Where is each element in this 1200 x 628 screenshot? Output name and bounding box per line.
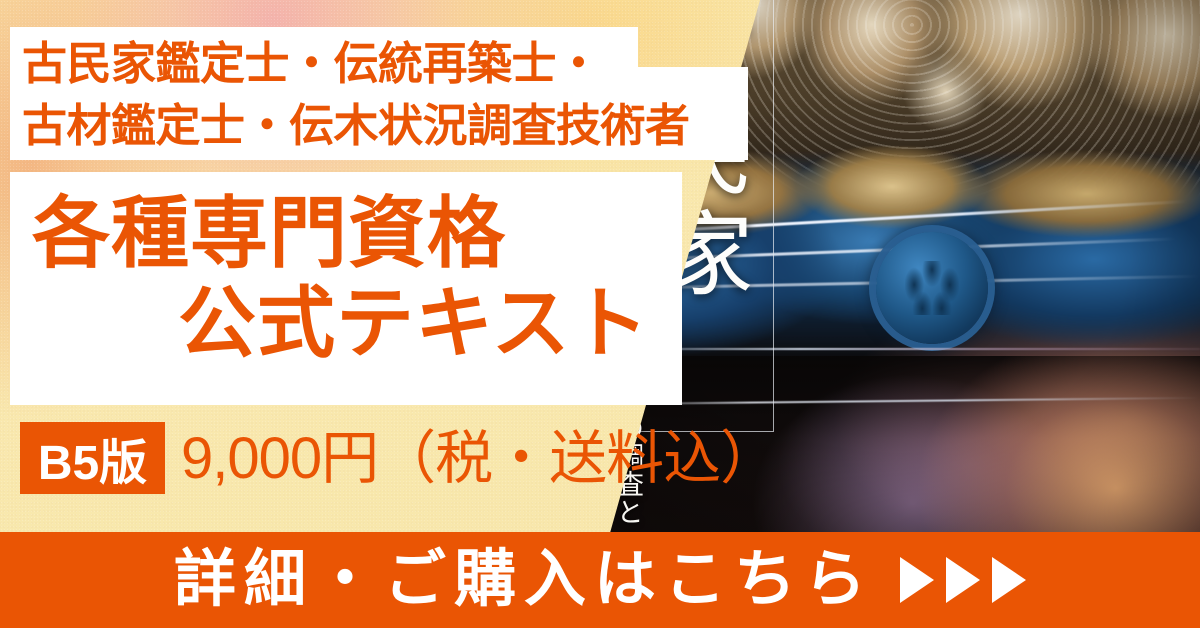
certifications-text: 古民家鑑定士・伝統再築士・ 古材鑑定士・伝木状況調査技術者: [22, 33, 742, 157]
cta-arrows: [900, 557, 1026, 603]
format-badge: B5版: [20, 422, 165, 494]
triangle-right-icon: [992, 557, 1026, 603]
headline-text: 各種専門資格 公式テキスト: [10, 172, 690, 405]
cta-button[interactable]: 詳細・ご購入はこちら: [0, 532, 1200, 628]
triangle-right-icon: [900, 557, 934, 603]
headline-line-2: 公式テキスト: [178, 284, 650, 362]
price-text: 9,000円（税・送料込）: [181, 428, 777, 490]
certifications-line-2: 古材鑑定士・伝木状況調査技術者: [22, 95, 742, 157]
certifications-line-1: 古民家鑑定士・伝統再築士・: [22, 33, 742, 95]
triangle-right-icon: [946, 557, 980, 603]
cta-label: 詳細・ご購入はこちら: [174, 549, 874, 611]
headline-line-1: 各種専門資格: [32, 194, 506, 272]
promo-banner: 古民家 伝統構法 古民家活用のための調査と再生の 古民家鑑定士・伝統再築士・ 古…: [0, 0, 1200, 628]
